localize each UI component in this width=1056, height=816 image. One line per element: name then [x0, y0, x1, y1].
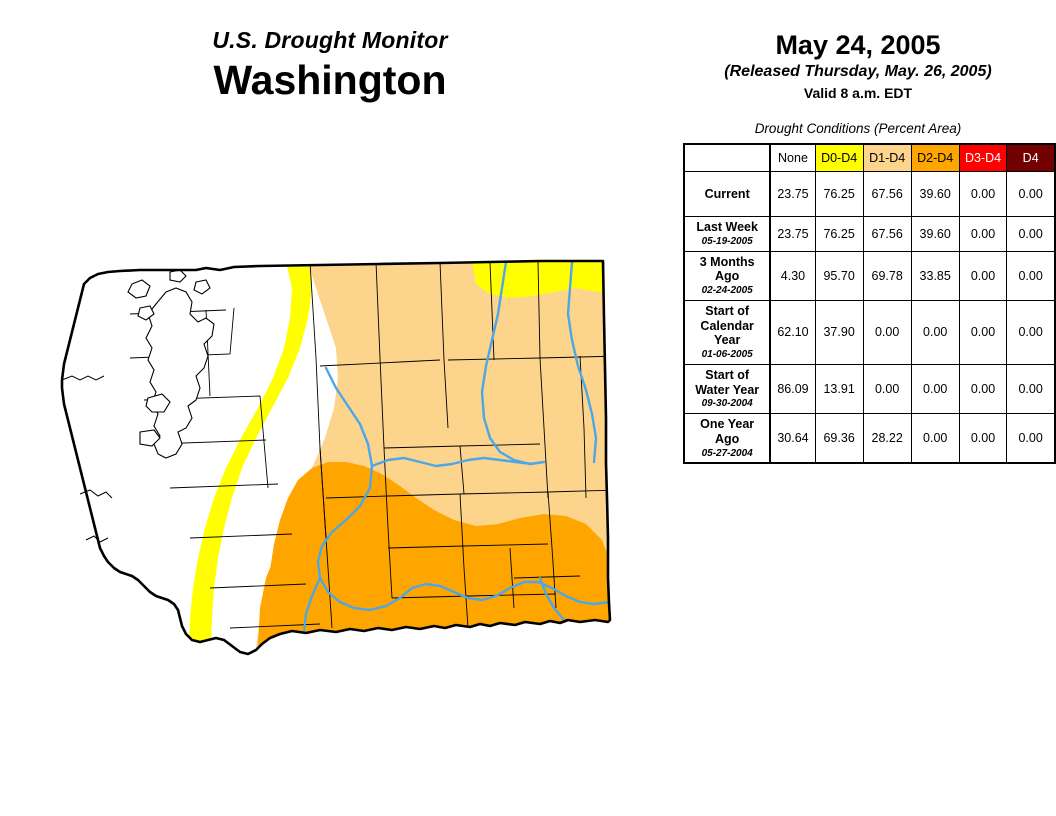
table-cell-value: 13.91	[815, 364, 863, 413]
table-cell-value: 0.00	[959, 364, 1007, 413]
table-cell-value: 69.36	[815, 414, 863, 464]
row-label: 3 Months Ago02-24-2005	[684, 251, 770, 300]
table-caption: Drought Conditions (Percent Area)	[660, 121, 1056, 136]
column-header-d0-d4: D0-D4	[815, 144, 863, 172]
table-cell-value: 0.00	[959, 251, 1007, 300]
table-cell-value: 23.75	[770, 172, 815, 217]
table-cell-value: 30.64	[770, 414, 815, 464]
table-cell-value: 0.00	[959, 217, 1007, 252]
table-row: One Year Ago05-27-200430.6469.3628.220.0…	[684, 414, 1055, 464]
valid-time: Valid 8 a.m. EDT	[660, 85, 1056, 101]
table-row: Start ofCalendar Year01-06-200562.1037.9…	[684, 300, 1055, 364]
title-block: U.S. Drought Monitor Washington	[0, 28, 660, 104]
table-cell-value: 28.22	[863, 414, 911, 464]
row-label: Last Week05-19-2005	[684, 217, 770, 252]
table-cell-value: 0.00	[911, 364, 959, 413]
table-cell-value: 37.90	[815, 300, 863, 364]
info-panel: May 24, 2005 (Released Thursday, May. 26…	[660, 0, 1056, 816]
row-sublabel: 05-19-2005	[687, 236, 767, 248]
table-cell-value: 0.00	[1007, 217, 1055, 252]
table-row: Last Week05-19-200523.7576.2567.5639.600…	[684, 217, 1055, 252]
table-cell-value: 0.00	[959, 300, 1007, 364]
table-row: 3 Months Ago02-24-20054.3095.7069.7833.8…	[684, 251, 1055, 300]
state-title: Washington	[0, 57, 660, 104]
table-cell-value: 67.56	[863, 172, 911, 217]
row-sublabel: 09-30-2004	[687, 398, 767, 410]
table-cell-value: 0.00	[911, 414, 959, 464]
washington-drought-map[interactable]	[20, 248, 644, 672]
table-corner-cell	[684, 144, 770, 172]
table-cell-value: 86.09	[770, 364, 815, 413]
released-date: (Released Thursday, May. 26, 2005)	[660, 63, 1056, 81]
column-header-d4: D4	[1007, 144, 1055, 172]
table-cell-value: 67.56	[863, 217, 911, 252]
table-row: Start ofWater Year09-30-200486.0913.910.…	[684, 364, 1055, 413]
row-label: Start ofWater Year09-30-2004	[684, 364, 770, 413]
row-sublabel: 01-06-2005	[687, 349, 767, 361]
table-cell-value: 0.00	[1007, 251, 1055, 300]
column-header-d1-d4: D1-D4	[863, 144, 911, 172]
table-cell-value: 0.00	[863, 300, 911, 364]
date-block: May 24, 2005 (Released Thursday, May. 26…	[660, 30, 1056, 101]
table-cell-value: 0.00	[1007, 364, 1055, 413]
table-cell-value: 0.00	[1007, 414, 1055, 464]
table-body: Current23.7576.2567.5639.600.000.00Last …	[684, 172, 1055, 464]
table-cell-value: 0.00	[863, 364, 911, 413]
map-drought-layers	[20, 248, 644, 672]
row-sublabel: 05-27-2004	[687, 448, 767, 460]
row-sublabel: 02-24-2005	[687, 285, 767, 297]
table-cell-value: 62.10	[770, 300, 815, 364]
table-cell-value: 0.00	[1007, 300, 1055, 364]
column-header-none: None	[770, 144, 815, 172]
drought-conditions-table: None D0-D4 D1-D4 D2-D4 D3-D4 D4 Current2…	[683, 143, 1056, 464]
table-cell-value: 0.00	[1007, 172, 1055, 217]
table-cell-value: 39.60	[911, 172, 959, 217]
column-header-d3-d4: D3-D4	[959, 144, 1007, 172]
table-row: Current23.7576.2567.5639.600.000.00	[684, 172, 1055, 217]
table-cell-value: 39.60	[911, 217, 959, 252]
table-cell-value: 23.75	[770, 217, 815, 252]
table-cell-value: 0.00	[959, 414, 1007, 464]
table-cell-value: 0.00	[911, 300, 959, 364]
row-label: Start ofCalendar Year01-06-2005	[684, 300, 770, 364]
table-header-row: None D0-D4 D1-D4 D2-D4 D3-D4 D4	[684, 144, 1055, 172]
table-cell-value: 76.25	[815, 217, 863, 252]
program-title: U.S. Drought Monitor	[0, 28, 660, 53]
table-cell-value: 33.85	[911, 251, 959, 300]
table-cell-value: 76.25	[815, 172, 863, 217]
table-cell-value: 0.00	[959, 172, 1007, 217]
row-label: Current	[684, 172, 770, 217]
table-cell-value: 95.70	[815, 251, 863, 300]
report-date: May 24, 2005	[660, 30, 1056, 60]
row-label: One Year Ago05-27-2004	[684, 414, 770, 464]
column-header-d2-d4: D2-D4	[911, 144, 959, 172]
map-panel: U.S. Drought Monitor Washington	[0, 0, 660, 816]
table-cell-value: 4.30	[770, 251, 815, 300]
table-cell-value: 69.78	[863, 251, 911, 300]
